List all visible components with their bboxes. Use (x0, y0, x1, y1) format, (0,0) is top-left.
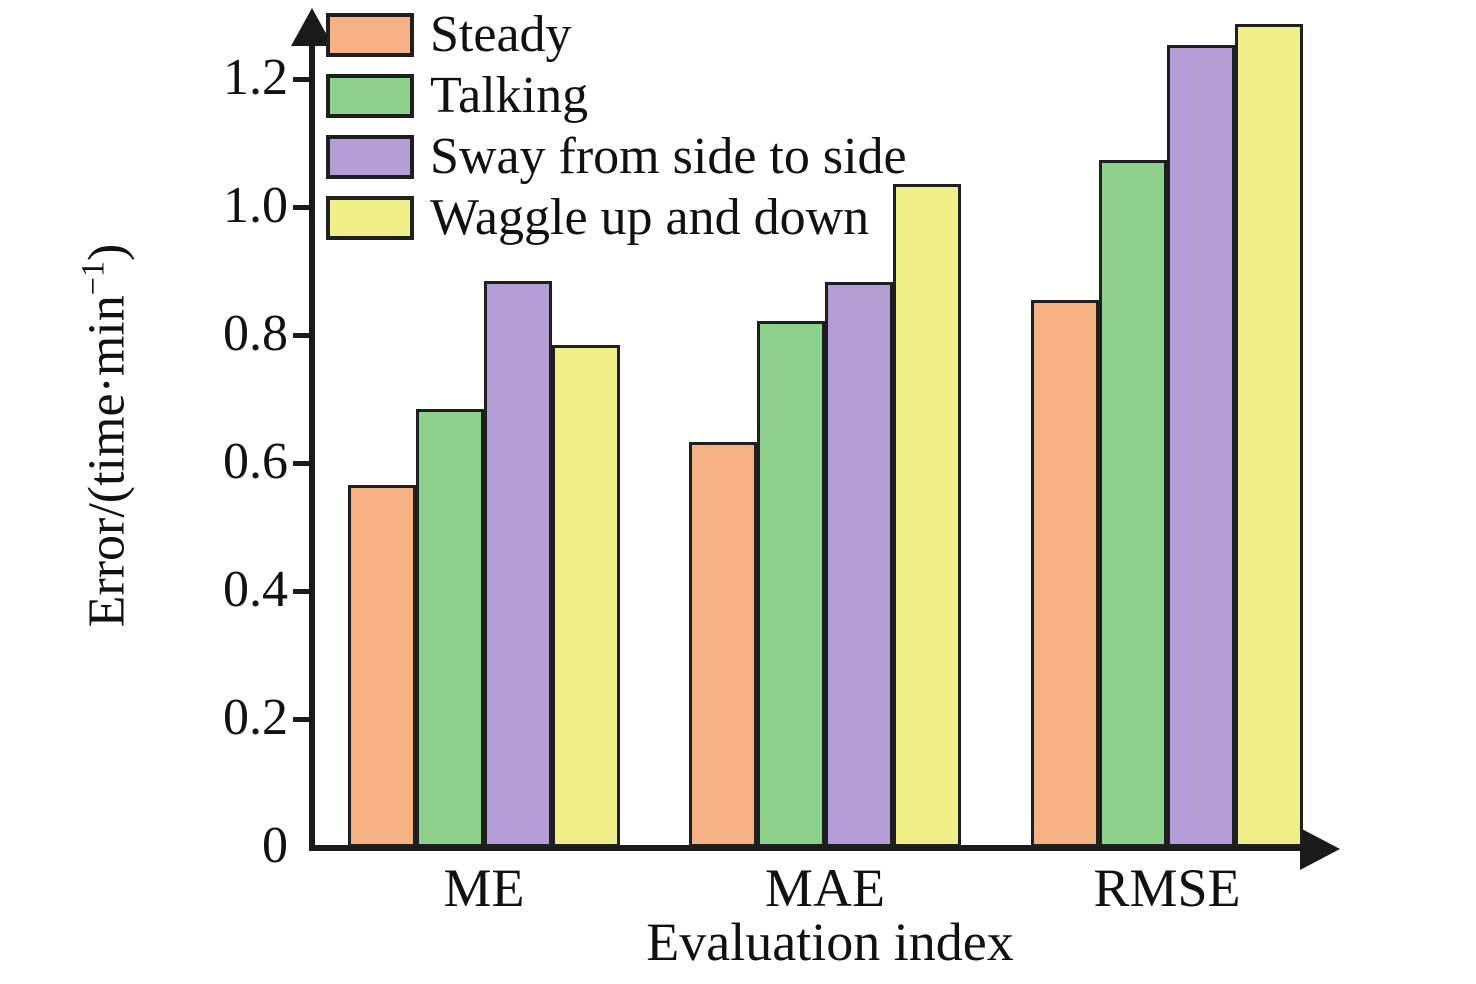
y-axis-tick-label: 0.4 (223, 564, 288, 616)
y-axis-tick-label: 0 (262, 820, 288, 872)
legend-label: Talking (430, 69, 588, 123)
legend-item: Sway from side to side (326, 128, 907, 186)
legend-swatch (326, 13, 414, 57)
y-axis-title: Error/(time·min−1) (65, 155, 136, 715)
y-axis-tick-label: 1.0 (223, 180, 288, 232)
y-axis-tick (293, 461, 312, 466)
bar (1099, 160, 1167, 847)
y-axis-tick (293, 333, 312, 338)
bar (893, 184, 961, 847)
legend-swatch (326, 196, 414, 240)
y-axis-tick (293, 205, 312, 210)
legend-label: Steady (430, 8, 572, 62)
y-axis-tick (293, 717, 312, 722)
y-axis-title-exponent: −1 (75, 261, 111, 295)
bar-chart: 00.20.40.60.81.01.2 MEMAERMSE Error/(tim… (0, 0, 1476, 984)
y-axis-tick (293, 77, 312, 82)
y-axis-line (309, 40, 315, 850)
bar (1235, 24, 1303, 847)
bar (484, 281, 552, 847)
bar (348, 485, 416, 847)
legend-label: Waggle up and down (430, 191, 869, 245)
y-axis-tick-label: 0.6 (223, 436, 288, 488)
legend-swatch (326, 135, 414, 179)
legend: SteadyTalkingSway from side to sideWaggl… (326, 6, 907, 250)
y-axis-tick (293, 589, 312, 594)
bar (1167, 45, 1235, 847)
y-axis-title-main: Error/(time·min (78, 295, 135, 627)
bar (552, 345, 620, 847)
bar (416, 409, 484, 847)
y-axis-tick-label: 0.8 (223, 308, 288, 360)
bar (689, 442, 757, 847)
bar (757, 321, 825, 847)
legend-item: Steady (326, 6, 907, 64)
x-axis-title: Evaluation index (520, 912, 1140, 972)
y-axis-title-close-paren: ) (78, 244, 135, 261)
legend-swatch (326, 74, 414, 118)
y-axis-tick-label: 0.2 (223, 692, 288, 744)
legend-label: Sway from side to side (430, 130, 907, 184)
x-axis-category-label: RMSE (1017, 858, 1317, 918)
legend-item: Talking (326, 67, 907, 125)
y-axis-tick-label: 1.2 (223, 52, 288, 104)
bar (825, 282, 893, 847)
x-axis-category-label: ME (334, 858, 634, 918)
legend-item: Waggle up and down (326, 189, 907, 247)
x-axis-category-label: MAE (675, 858, 975, 918)
bar (1031, 300, 1099, 847)
